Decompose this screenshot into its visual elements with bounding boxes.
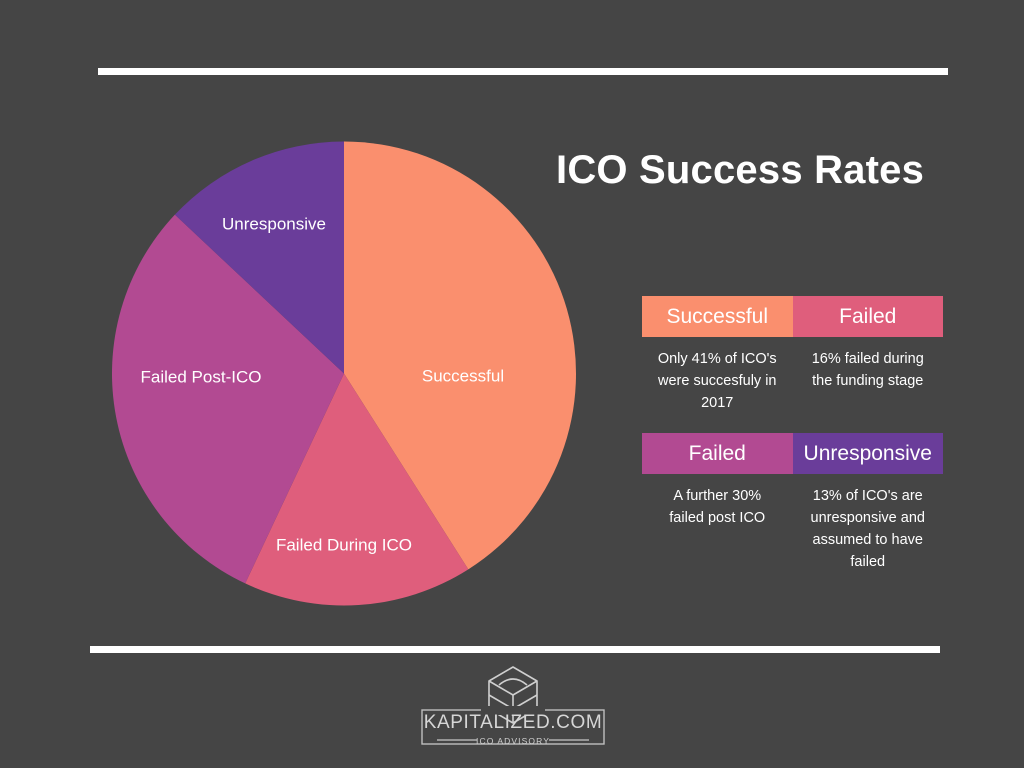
legend-header-failed-during[interactable]: Failed	[793, 296, 944, 337]
legend-header-row-1: Successful Failed	[642, 296, 943, 337]
legend-description-successful: Only 41% of ICO's were succesfuly in 201…	[642, 348, 793, 414]
pie-label-successful: Successful	[422, 366, 504, 385]
legend-row-2: Failed Unresponsive A further 30% failed…	[642, 433, 943, 573]
legend-header-row-2: Failed Unresponsive	[642, 433, 943, 474]
legend-description-unresponsive: 13% of ICO's are unresponsive and assume…	[793, 485, 944, 573]
legend-header-unresponsive[interactable]: Unresponsive	[793, 433, 944, 474]
legend-body-row-1: Only 41% of ICO's were succesfuly in 201…	[642, 337, 943, 414]
legend-row-1: Successful Failed Only 41% of ICO's were…	[642, 296, 943, 414]
page-title: ICO Success Rates	[556, 148, 956, 193]
legend-header-successful[interactable]: Successful	[642, 296, 793, 337]
top-divider-rule	[98, 68, 948, 75]
footer-logo-svg: KAPITALIZED.COM ICO ADVISORY	[419, 665, 607, 747]
footer-logo[interactable]: KAPITALIZED.COM ICO ADVISORY	[419, 665, 607, 747]
legend-body-row-2: A further 30% failed post ICO 13% of ICO…	[642, 474, 943, 573]
pie-label-failed-during-ico: Failed During ICO	[276, 535, 412, 554]
legend-description-failed-post: A further 30% failed post ICO	[642, 485, 793, 573]
pie-chart: SuccessfulFailed During ICOFailed Post-I…	[112, 141, 577, 606]
pie-label-failed-post-ico: Failed Post-ICO	[141, 367, 262, 386]
legend-description-failed-during: 16% failed during the funding stage	[793, 348, 944, 414]
logo-tagline: ICO ADVISORY	[476, 736, 550, 746]
pie-label-unresponsive: Unresponsive	[222, 214, 326, 233]
logo-name: KAPITALIZED.COM	[424, 712, 603, 733]
legend-table: Successful Failed Only 41% of ICO's were…	[642, 296, 943, 573]
pie-chart-svg: SuccessfulFailed During ICOFailed Post-I…	[112, 141, 577, 606]
legend-header-failed-post[interactable]: Failed	[642, 433, 793, 474]
bottom-divider-rule	[90, 646, 940, 653]
infographic-canvas: ICO Success Rates SuccessfulFailed Durin…	[0, 0, 1024, 768]
